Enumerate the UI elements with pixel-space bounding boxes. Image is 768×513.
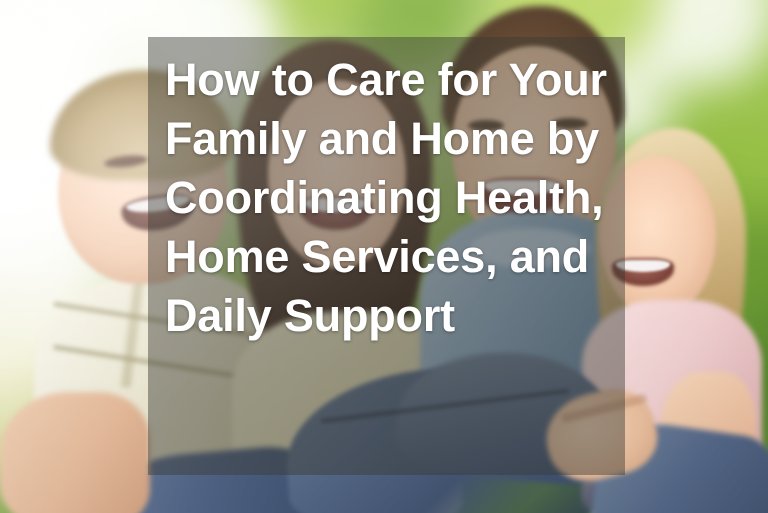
hero-banner: How to Care for Your Family and Home by …: [0, 0, 768, 513]
page-title: How to Care for Your Family and Home by …: [165, 50, 617, 345]
boy-arm: [0, 392, 150, 513]
